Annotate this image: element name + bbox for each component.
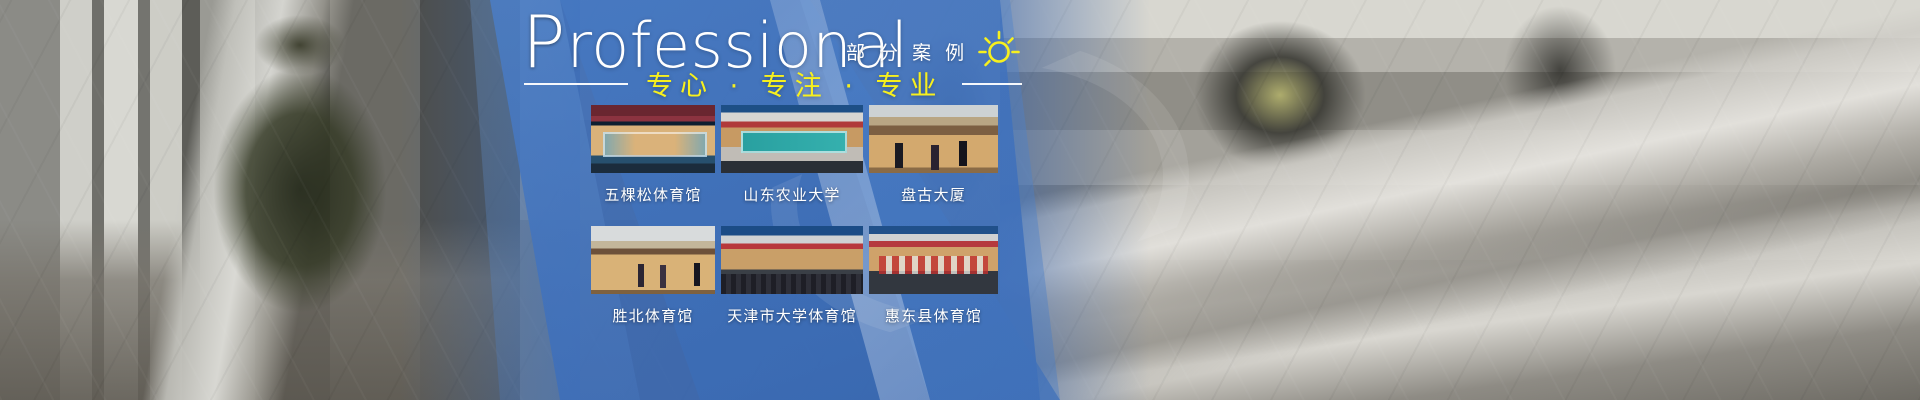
case-thumbnail[interactable] <box>721 105 863 173</box>
case-label: 惠东县体育馆 <box>885 305 982 326</box>
case-item[interactable]: 五棵松体育馆 <box>591 105 715 214</box>
case-item[interactable]: 盘古大厦 <box>869 105 998 214</box>
case-label: 胜北体育馆 <box>612 305 693 326</box>
case-thumbnail[interactable] <box>591 105 715 173</box>
case-thumbnail[interactable] <box>869 105 998 173</box>
promo-banner: Professional 部 分 案 例 <box>0 0 1920 400</box>
case-thumbnail[interactable] <box>591 226 715 294</box>
section-tag-label: 部 分 案 例 <box>846 38 968 65</box>
case-label: 山东农业大学 <box>743 184 840 205</box>
case-item[interactable]: 惠东县体育馆 <box>869 226 998 335</box>
tagline-rule-right <box>962 83 1022 85</box>
case-thumbnail[interactable] <box>721 226 863 294</box>
case-item[interactable]: 胜北体育馆 <box>591 226 715 335</box>
banner-content: Professional 部 分 案 例 <box>0 0 1920 400</box>
case-label: 五棵松体育馆 <box>604 184 701 205</box>
case-thumbnail[interactable] <box>869 226 998 294</box>
case-item[interactable]: 天津市大学体育馆 <box>721 226 863 335</box>
tagline-rule-left <box>524 83 628 85</box>
case-label: 天津市大学体育馆 <box>727 305 857 326</box>
case-label: 盘古大厦 <box>901 184 966 205</box>
case-thumbnail-grid: 五棵松体育馆 山东农业大学 盘古大厦 胜北体育馆 天津市大学体育馆 惠东县体育馆 <box>591 105 998 335</box>
tagline-row: 专心 · 专注 · 专业 <box>524 64 1004 103</box>
tagline-text: 专心 · 专注 · 专业 <box>646 64 944 103</box>
case-item[interactable]: 山东农业大学 <box>721 105 863 214</box>
